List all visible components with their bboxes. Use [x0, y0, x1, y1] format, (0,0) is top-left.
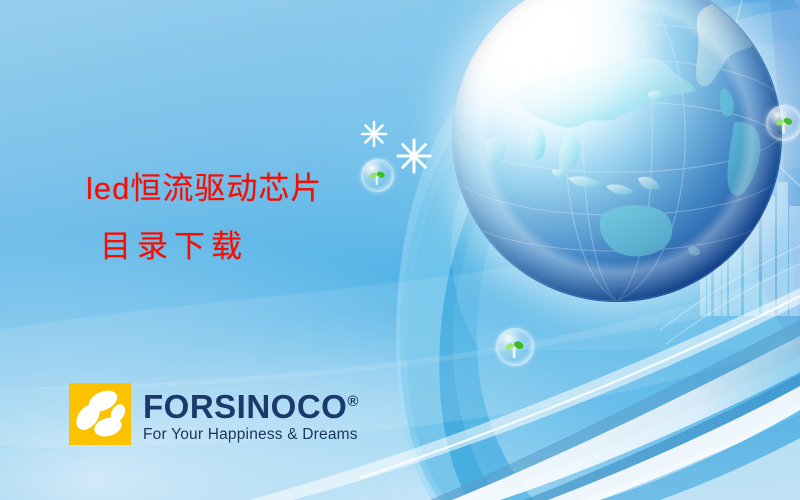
globe-graphic	[452, 0, 782, 302]
registered-trademark-icon: ®	[347, 393, 358, 410]
headline-line-1: led恒流驱动芯片	[86, 171, 322, 206]
promo-banner: led恒流驱动芯片 目录下载 FORSINOCO® For Your Happi…	[0, 0, 800, 500]
four-petal-pinwheel-icon	[69, 383, 131, 445]
brand-logo[interactable]: FORSINOCO® For Your Happiness & Dreams	[69, 383, 358, 445]
soap-bubble-icon-3	[766, 105, 800, 141]
globe-halo	[426, 0, 800, 328]
brand-tagline: For Your Happiness & Dreams	[143, 425, 358, 445]
soap-bubble-icon-2	[496, 328, 534, 366]
brand-name: FORSINOCO	[143, 388, 347, 425]
soap-bubble-icon-1	[361, 159, 394, 192]
headline-line-2: 目录下载	[86, 218, 322, 276]
page-title: led恒流驱动芯片 目录下载	[86, 160, 322, 276]
starburst-sparkle-icon	[360, 120, 388, 153]
logo-text-block: FORSINOCO® For Your Happiness & Dreams	[143, 383, 358, 445]
green-sprout-icon	[368, 168, 386, 186]
brand-wordmark: FORSINOCO®	[143, 385, 358, 424]
starburst-sparkle-icon-2	[396, 138, 432, 179]
green-sprout-icon-2	[504, 338, 525, 359]
green-sprout-icon-3	[774, 114, 794, 133]
